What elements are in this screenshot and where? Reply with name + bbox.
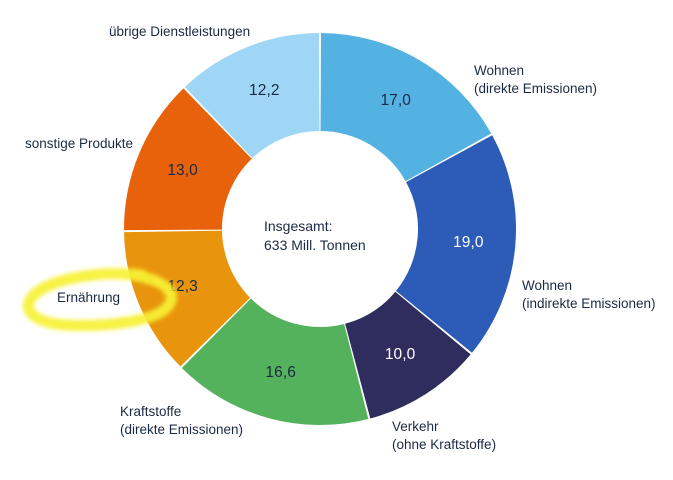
label-wohnen-direkte: Wohnen (direkte Emissionen): [474, 62, 597, 97]
label-wohnen-indirekte-line1: Wohnen: [522, 278, 572, 293]
label-wohnen-indirekte: Wohnen (indirekte Emissionen): [522, 277, 656, 312]
label-verkehr: Verkehr (ohne Kraftstoffe): [392, 418, 496, 453]
label-ernaehrung: Ernährung: [57, 289, 120, 307]
label-kraftstoffe: Kraftstoffe (direkte Emissionen): [120, 403, 243, 438]
label-kraftstoffe-line2: (direkte Emissionen): [120, 421, 243, 439]
label-kraftstoffe-line1: Kraftstoffe: [120, 404, 181, 419]
emissions-donut-chart: 17,019,010,016,612,313,012,2 Wohnen (dir…: [0, 0, 673, 480]
label-wohnen-direkte-line2: (direkte Emissionen): [474, 80, 597, 98]
label-ernaehrung-line1: Ernährung: [57, 290, 120, 305]
center-total-label: Insgesamt: 633 Mill. Tonnen: [264, 217, 366, 255]
label-sonstige-produkte: sonstige Produkte: [25, 135, 133, 153]
center-total-line2: 633 Mill. Tonnen: [264, 236, 366, 255]
label-uebrige-dienstleistungen: übrige Dienstleistungen: [109, 23, 250, 41]
label-wohnen-direkte-line1: Wohnen: [474, 63, 524, 78]
label-sonstige-produkte-line1: sonstige Produkte: [25, 136, 133, 151]
label-wohnen-indirekte-line2: (indirekte Emissionen): [522, 295, 656, 313]
label-verkehr-line1: Verkehr: [392, 419, 439, 434]
center-total-line1: Insgesamt:: [264, 218, 332, 234]
label-verkehr-line2: (ohne Kraftstoffe): [392, 436, 496, 454]
label-uebrige-dienstleistungen-line1: übrige Dienstleistungen: [109, 24, 250, 39]
